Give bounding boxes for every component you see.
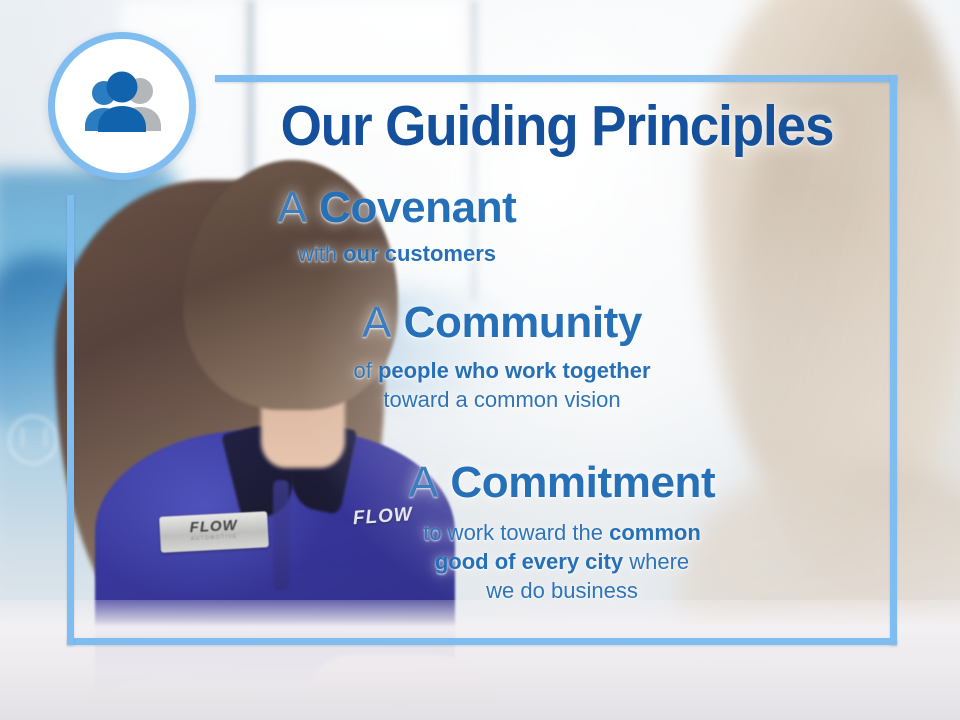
principle-commitment: A Commitment to work toward the common g… <box>157 460 960 605</box>
principle-community-subtext: of people who work together toward a com… <box>97 356 907 414</box>
community-sub-prefix: of <box>353 358 377 383</box>
community-sub-line1: of people who work together <box>97 356 907 385</box>
covenant-sub-bold: our customers <box>343 241 496 266</box>
principle-covenant: A Covenant with our customers <box>0 185 802 268</box>
principle-covenant-article: A <box>278 183 307 232</box>
principle-commitment-heading: A Commitment <box>157 460 960 507</box>
principle-community-heading: A Community <box>97 300 907 347</box>
principle-commitment-subtext: to work toward the common good of every … <box>157 518 960 605</box>
vw-logo-blurred <box>8 415 58 465</box>
principle-commitment-article: A <box>409 458 438 507</box>
page-title: Our Guiding Principles <box>241 97 873 155</box>
commitment-sub-line3: we do business <box>157 576 960 605</box>
commitment-sub-suffix: where <box>623 549 689 574</box>
commitment-sub-bold-2: good of every city <box>435 549 623 574</box>
principle-commitment-keyword: Commitment <box>450 458 715 507</box>
guiding-principles-poster: FLOW AUTOMOTIVE FLOW <box>0 0 960 720</box>
community-sub-bold: people who work together <box>378 358 651 383</box>
covenant-sub-prefix: with <box>298 241 343 266</box>
principle-covenant-keyword: Covenant <box>319 183 516 232</box>
principle-covenant-heading: A Covenant <box>0 185 802 232</box>
principle-community: A Community of people who work together … <box>97 300 907 414</box>
poster-content: Our Guiding Principles A Covenant with o… <box>67 75 897 645</box>
commitment-sub-bold-1: common <box>609 520 701 545</box>
commitment-sub-line1: to work toward the common <box>157 518 960 547</box>
principle-covenant-subtext: with our customers <box>0 239 802 268</box>
community-sub-line2: toward a common vision <box>97 385 907 414</box>
principle-community-keyword: Community <box>404 298 642 347</box>
commitment-sub-prefix: to work toward the <box>423 520 609 545</box>
principle-community-article: A <box>362 298 391 347</box>
commitment-sub-line2: good of every city where <box>157 547 960 576</box>
